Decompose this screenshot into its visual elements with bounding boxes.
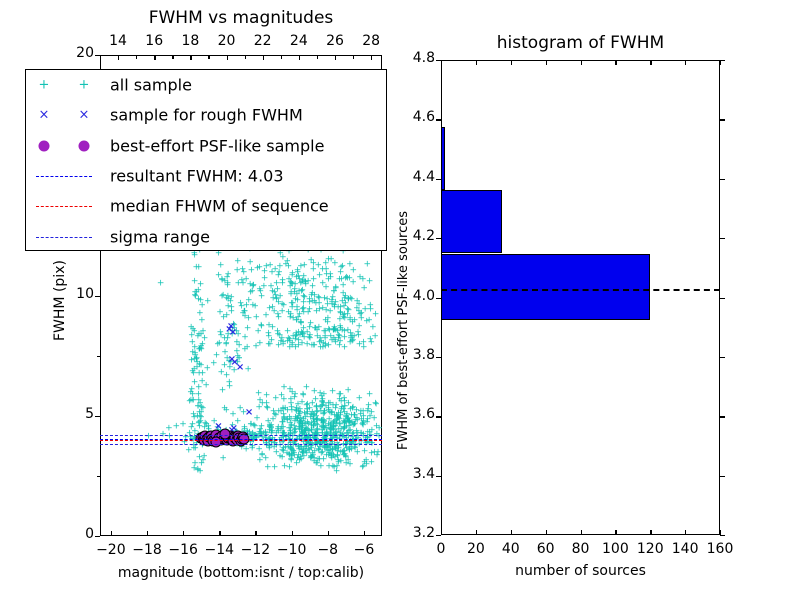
scatter-point-all-sample: + xyxy=(301,261,309,270)
tick-mark xyxy=(436,416,441,417)
scatter-point-all-sample: + xyxy=(317,463,325,472)
scatter-point-all-sample: + xyxy=(237,299,245,308)
scatter-point-all-sample: + xyxy=(258,293,266,302)
scatter-point-all-sample: + xyxy=(157,280,165,289)
scatter-point-all-sample: + xyxy=(199,328,207,337)
scatter-point-all-sample: + xyxy=(363,318,371,327)
legend-item-label: best-effort PSF-like sample xyxy=(110,136,324,155)
tick-label: 3.2 xyxy=(399,525,435,541)
scatter-point-all-sample: + xyxy=(197,297,205,306)
legend-item-label: sigma range xyxy=(110,227,210,246)
legend-item: resultant FWHM: 4.03 xyxy=(26,161,386,191)
scatter-point-all-sample: + xyxy=(355,331,363,340)
scatter-point-all-sample: + xyxy=(316,440,324,449)
legend-item: median FHWM of sequence xyxy=(26,191,386,221)
scatter-point-all-sample: + xyxy=(197,345,205,354)
scatter-point-all-sample: + xyxy=(193,355,201,364)
tick-mark xyxy=(317,55,318,59)
histogram-resultant-fwhm-line xyxy=(441,289,720,291)
legend-item: sigma range xyxy=(26,222,386,252)
plus-icon: + xyxy=(79,79,90,92)
plus-icon: + xyxy=(39,79,50,92)
tick-mark xyxy=(436,535,441,536)
tick-mark xyxy=(546,60,547,65)
tick-mark xyxy=(100,55,101,59)
scatter-point-all-sample: + xyxy=(301,429,309,438)
dashed-line-icon xyxy=(36,206,92,207)
scatter-point-rough-fwhm: × xyxy=(245,408,253,418)
scatter-point-all-sample: + xyxy=(339,282,347,291)
scatter-point-all-sample: + xyxy=(319,305,327,314)
scatter-point-all-sample: + xyxy=(288,342,296,351)
scatter-point-all-sample: + xyxy=(218,276,226,285)
scatter-point-all-sample: + xyxy=(265,321,273,330)
scatter-point-all-sample: + xyxy=(300,453,308,462)
scatter-point-all-sample: + xyxy=(189,339,197,348)
tick-mark xyxy=(97,296,100,297)
tick-mark xyxy=(720,60,725,61)
scatter-point-all-sample: + xyxy=(198,317,206,326)
scatter-point-all-sample: + xyxy=(216,340,224,349)
tick-mark xyxy=(720,416,725,417)
scatter-point-all-sample: + xyxy=(336,332,344,341)
scatter-point-all-sample: + xyxy=(334,413,342,422)
scatter-point-all-sample: + xyxy=(190,365,198,374)
legend-item-label: all sample xyxy=(110,76,192,95)
scatter-point-all-sample: + xyxy=(194,466,202,475)
tick-mark xyxy=(364,531,365,536)
tick-mark xyxy=(97,356,100,357)
scatter-point-all-sample: + xyxy=(173,422,181,431)
tick-mark xyxy=(436,476,441,477)
scatter-point-all-sample: + xyxy=(304,409,312,418)
scatter-point-all-sample: + xyxy=(271,464,279,473)
scatter-point-all-sample: + xyxy=(328,337,336,346)
sigma-range-line xyxy=(100,444,382,445)
tick-mark xyxy=(511,60,512,65)
tick-mark xyxy=(136,55,137,59)
tick-mark xyxy=(720,119,725,120)
left-plot-title: FWHM vs magnitudes xyxy=(0,8,641,28)
scatter-point-all-sample: + xyxy=(299,287,307,296)
scatter-point-all-sample: + xyxy=(342,460,350,469)
scatter-point-all-sample: + xyxy=(337,269,345,278)
tick-label: 0 xyxy=(64,526,94,542)
tick-label: 3.8 xyxy=(399,347,435,363)
scatter-point-all-sample: + xyxy=(287,289,295,298)
tick-mark xyxy=(685,530,686,535)
scatter-point-all-sample: + xyxy=(313,416,321,425)
tick-mark xyxy=(281,55,282,59)
scatter-point-all-sample: + xyxy=(305,333,313,342)
scatter-point-all-sample: + xyxy=(372,400,380,409)
tick-mark xyxy=(511,530,512,535)
scatter-point-all-sample: + xyxy=(279,254,287,263)
scatter-point-all-sample: + xyxy=(223,371,231,380)
tick-mark xyxy=(183,531,184,536)
tick-mark xyxy=(546,530,547,535)
histogram-bar xyxy=(441,127,445,190)
tick-mark xyxy=(154,55,155,59)
circle-icon xyxy=(39,140,50,151)
tick-mark xyxy=(436,119,441,120)
sigma-range-line xyxy=(100,435,382,436)
scatter-point-all-sample: + xyxy=(327,273,335,282)
scatter-point-all-sample: + xyxy=(287,445,295,454)
scatter-point-all-sample: + xyxy=(295,336,303,345)
scatter-point-all-sample: + xyxy=(332,444,340,453)
scatter-point-all-sample: + xyxy=(279,280,287,289)
tick-mark xyxy=(172,55,173,59)
scatter-point-rough-fwhm: × xyxy=(225,325,233,335)
tick-label: 4.2 xyxy=(399,228,435,244)
tick-mark xyxy=(208,55,209,59)
tick-mark xyxy=(581,530,582,535)
scatter-point-all-sample: + xyxy=(274,310,282,319)
tick-label: 20 xyxy=(64,45,94,61)
scatter-point-all-sample: + xyxy=(324,315,332,324)
scatter-point-all-sample: + xyxy=(219,292,227,301)
tick-mark xyxy=(95,536,100,537)
tick-mark xyxy=(720,238,725,239)
scatter-point-all-sample: + xyxy=(318,393,326,402)
right-plot-xlabel: number of sources xyxy=(181,563,800,579)
scatter-point-all-sample: + xyxy=(346,338,354,347)
legend-item: ++all sample xyxy=(26,70,386,100)
tick-mark xyxy=(255,531,256,536)
scatter-point-all-sample: + xyxy=(366,278,374,287)
scatter-point-all-sample: + xyxy=(188,386,196,395)
tick-mark xyxy=(615,530,616,535)
scatter-point-all-sample: + xyxy=(322,327,330,336)
tick-mark xyxy=(436,60,441,61)
tick-mark xyxy=(476,530,477,535)
scatter-point-all-sample: + xyxy=(281,463,289,472)
tick-label: 160 xyxy=(695,541,745,557)
tick-label: 3.6 xyxy=(399,406,435,422)
tick-mark xyxy=(685,60,686,65)
tick-mark xyxy=(147,531,148,536)
tick-label: 4.8 xyxy=(399,50,435,66)
scatter-point-all-sample: + xyxy=(204,297,212,306)
histogram-bar xyxy=(441,254,650,320)
tick-mark xyxy=(371,55,372,59)
scatter-point-all-sample: + xyxy=(245,297,253,306)
scatter-point-all-sample: + xyxy=(300,325,308,334)
scatter-point-all-sample: + xyxy=(264,464,272,473)
scatter-point-all-sample: + xyxy=(297,417,305,426)
scatter-point-all-sample: + xyxy=(193,263,201,272)
tick-mark xyxy=(615,60,616,65)
figure-canvas: FWHM vs magnitudes magnitude (bottom:isn… xyxy=(0,0,800,600)
tick-mark xyxy=(97,416,100,417)
scatter-point-all-sample: + xyxy=(361,459,369,468)
scatter-point-all-sample: + xyxy=(336,315,344,324)
scatter-point-all-sample: + xyxy=(190,445,198,454)
dashdot-line-icon xyxy=(36,237,92,238)
scatter-point-all-sample: + xyxy=(349,279,357,288)
scatter-point-all-sample: + xyxy=(299,277,307,286)
tick-mark xyxy=(720,298,725,299)
legend-item-label: resultant FWHM: 4.03 xyxy=(110,167,284,186)
tick-mark xyxy=(111,531,112,536)
scatter-point-all-sample: + xyxy=(239,310,247,319)
tick-mark xyxy=(720,357,725,358)
tick-mark xyxy=(292,531,293,536)
scatter-point-all-sample: + xyxy=(229,411,237,420)
scatter-point-all-sample: + xyxy=(252,343,260,352)
legend-item-label: median FHWM of sequence xyxy=(110,197,329,216)
circle-icon xyxy=(79,140,90,151)
cross-icon: × xyxy=(79,109,90,122)
tick-label: 4.0 xyxy=(399,288,435,304)
tick-mark xyxy=(720,476,725,477)
scatter-point-all-sample: + xyxy=(344,386,352,395)
scatter-point-all-sample: + xyxy=(253,313,261,322)
scatter-point-all-sample: + xyxy=(371,333,379,342)
scatter-point-all-sample: + xyxy=(322,266,330,275)
scatter-point-all-sample: + xyxy=(235,342,243,351)
tick-mark xyxy=(328,531,329,536)
scatter-point-all-sample: + xyxy=(195,384,203,393)
scatter-point-all-sample: + xyxy=(332,299,340,308)
histogram-bar xyxy=(441,190,502,254)
scatter-point-all-sample: + xyxy=(268,269,276,278)
scatter-point-all-sample: + xyxy=(374,449,382,458)
scatter-point-all-sample: + xyxy=(337,397,345,406)
tick-mark xyxy=(476,60,477,65)
scatter-point-all-sample: + xyxy=(191,278,199,287)
legend-item-label: sample for rough FWHM xyxy=(110,106,303,125)
scatter-point-all-sample: + xyxy=(228,294,236,303)
scatter-point-all-sample: + xyxy=(346,314,354,323)
scatter-point-all-sample: + xyxy=(288,299,296,308)
scatter-point-all-sample: + xyxy=(366,391,374,400)
tick-label: 5 xyxy=(64,406,94,422)
tick-label: 4.4 xyxy=(399,169,435,185)
scatter-point-all-sample: + xyxy=(246,281,254,290)
scatter-point-all-sample: + xyxy=(345,296,353,305)
legend-item: ××sample for rough FWHM xyxy=(26,100,386,130)
scatter-point-all-sample: + xyxy=(219,455,227,464)
scatter-point-all-sample: + xyxy=(210,360,218,369)
tick-mark xyxy=(436,357,441,358)
scatter-point-all-sample: + xyxy=(311,297,319,306)
dashed-line-icon xyxy=(36,176,92,177)
legend-item: best-effort PSF-like sample xyxy=(26,131,386,161)
tick-label: 3.4 xyxy=(399,466,435,482)
tick-mark xyxy=(95,55,100,56)
tick-mark xyxy=(97,476,100,477)
tick-label: −6 xyxy=(334,542,394,558)
median-fwhm-line xyxy=(100,440,382,441)
tick-mark xyxy=(441,530,442,535)
scatter-point-all-sample: + xyxy=(275,269,283,278)
tick-mark xyxy=(118,55,119,59)
legend: ++all sample××sample for rough FWHMbest-… xyxy=(25,69,387,251)
tick-mark xyxy=(720,535,725,536)
scatter-point-all-sample: + xyxy=(311,341,319,350)
tick-mark xyxy=(335,55,336,59)
scatter-point-all-sample: + xyxy=(364,261,372,270)
scatter-point-all-sample: + xyxy=(244,366,252,375)
tick-label: 4.6 xyxy=(399,109,435,125)
scatter-point-all-sample: + xyxy=(319,280,327,289)
scatter-point-all-sample: + xyxy=(280,396,288,405)
scatter-point-all-sample: + xyxy=(310,276,318,285)
scatter-point-all-sample: + xyxy=(256,457,264,466)
scatter-point-rough-fwhm: × xyxy=(236,363,244,373)
scatter-point-all-sample: + xyxy=(293,459,301,468)
tick-mark xyxy=(720,179,725,180)
scatter-point-all-sample: + xyxy=(322,342,330,351)
scatter-point-all-sample: + xyxy=(219,387,227,396)
scatter-point-all-sample: + xyxy=(365,401,373,410)
tick-mark xyxy=(219,531,220,536)
tick-mark xyxy=(227,55,228,59)
scatter-point-all-sample: + xyxy=(276,332,284,341)
tick-mark xyxy=(299,55,300,59)
scatter-point-all-sample: + xyxy=(268,337,276,346)
tick-mark xyxy=(441,60,442,65)
scatter-point-all-sample: + xyxy=(262,312,270,321)
scatter-point-all-sample: + xyxy=(276,293,284,302)
scatter-point-all-sample: + xyxy=(240,268,248,277)
scatter-point-all-sample: + xyxy=(329,388,337,397)
scatter-point-all-sample: + xyxy=(261,274,269,283)
tick-mark xyxy=(190,55,191,59)
scatter-point-all-sample: + xyxy=(346,443,354,452)
tick-mark xyxy=(650,530,651,535)
scatter-point-all-sample: + xyxy=(356,394,364,403)
tick-mark xyxy=(581,60,582,65)
tick-mark xyxy=(263,55,264,59)
scatter-point-all-sample: + xyxy=(256,396,264,405)
tick-mark xyxy=(650,60,651,65)
scatter-point-all-sample: + xyxy=(354,416,362,425)
tick-label: 10 xyxy=(64,286,94,302)
tick-mark xyxy=(353,55,354,59)
scatter-point-all-sample: + xyxy=(325,404,333,413)
scatter-point-all-sample: + xyxy=(228,307,236,316)
right-plot-title: histogram of FWHM xyxy=(181,33,800,53)
tick-mark xyxy=(245,55,246,59)
cross-icon: × xyxy=(39,109,50,122)
scatter-point-all-sample: + xyxy=(333,462,341,471)
scatter-point-all-sample: + xyxy=(327,256,335,265)
scatter-point-all-sample: + xyxy=(194,412,202,421)
scatter-point-all-sample: + xyxy=(343,423,351,432)
